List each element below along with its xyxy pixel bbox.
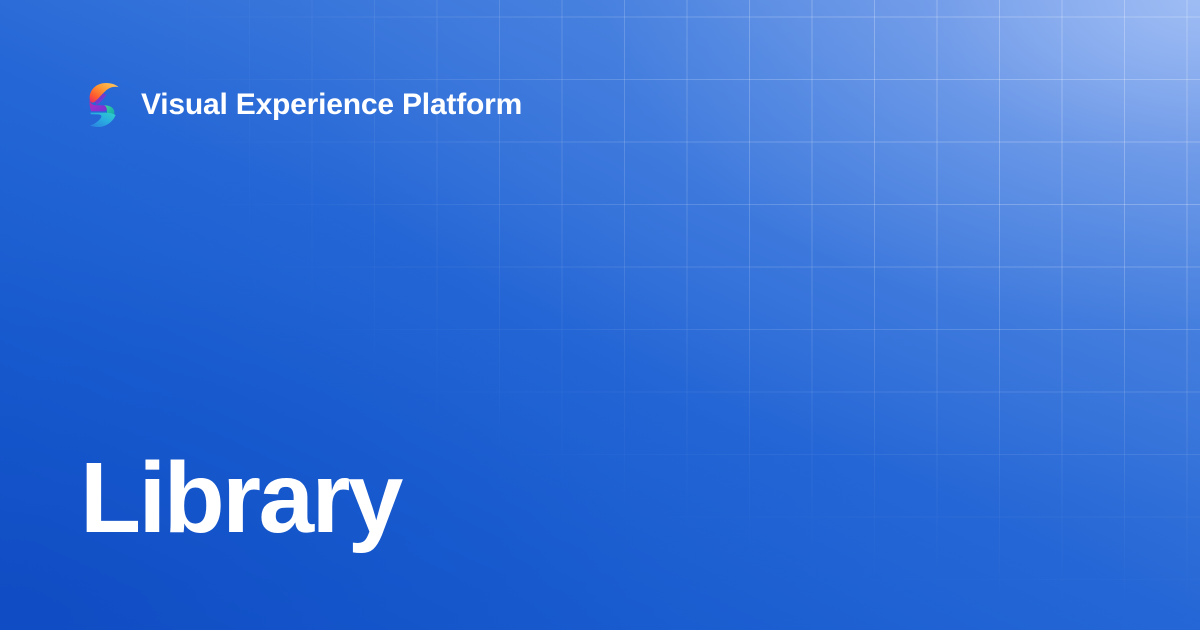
brand-name-label: Visual Experience Platform bbox=[141, 90, 522, 120]
card-content: Visual Experience Platform Library bbox=[0, 0, 1200, 630]
brand-header: Visual Experience Platform bbox=[84, 78, 522, 132]
storyblok-s-logo-icon bbox=[84, 82, 120, 128]
og-card: Visual Experience Platform Library bbox=[0, 0, 1200, 630]
page-title: Library bbox=[80, 448, 401, 548]
